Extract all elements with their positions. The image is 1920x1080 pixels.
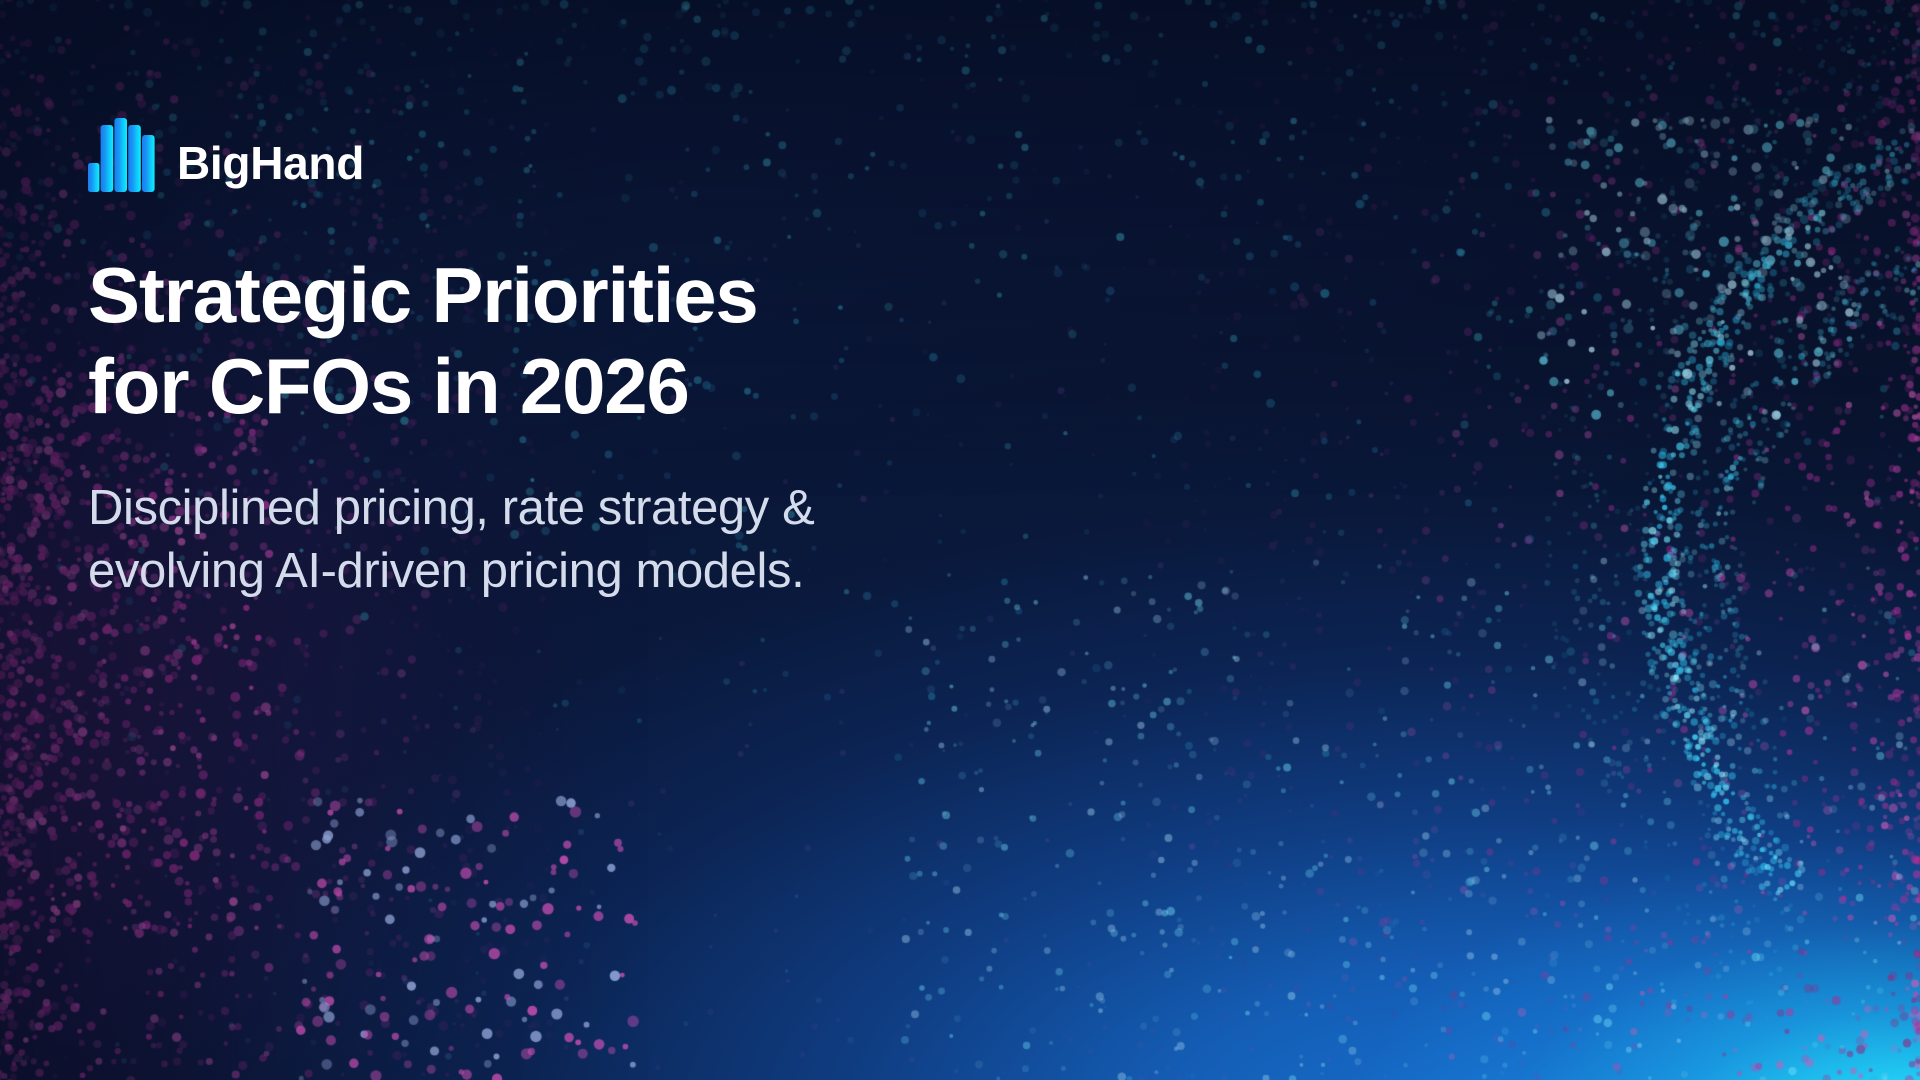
hero-content: BigHand Strategic Priorities for CFOs in…	[88, 108, 1268, 604]
page-title: Strategic Priorities for CFOs in 2026	[88, 250, 1268, 433]
brand-logo[interactable]: BigHand	[88, 108, 1268, 192]
page-subtitle: Disciplined pricing, rate strategy & evo…	[88, 477, 1268, 604]
brand-wordmark: BigHand	[177, 140, 364, 186]
hero-banner: BigHand Strategic Priorities for CFOs in…	[0, 0, 1920, 1080]
bighand-bars-logo-icon	[88, 116, 160, 192]
